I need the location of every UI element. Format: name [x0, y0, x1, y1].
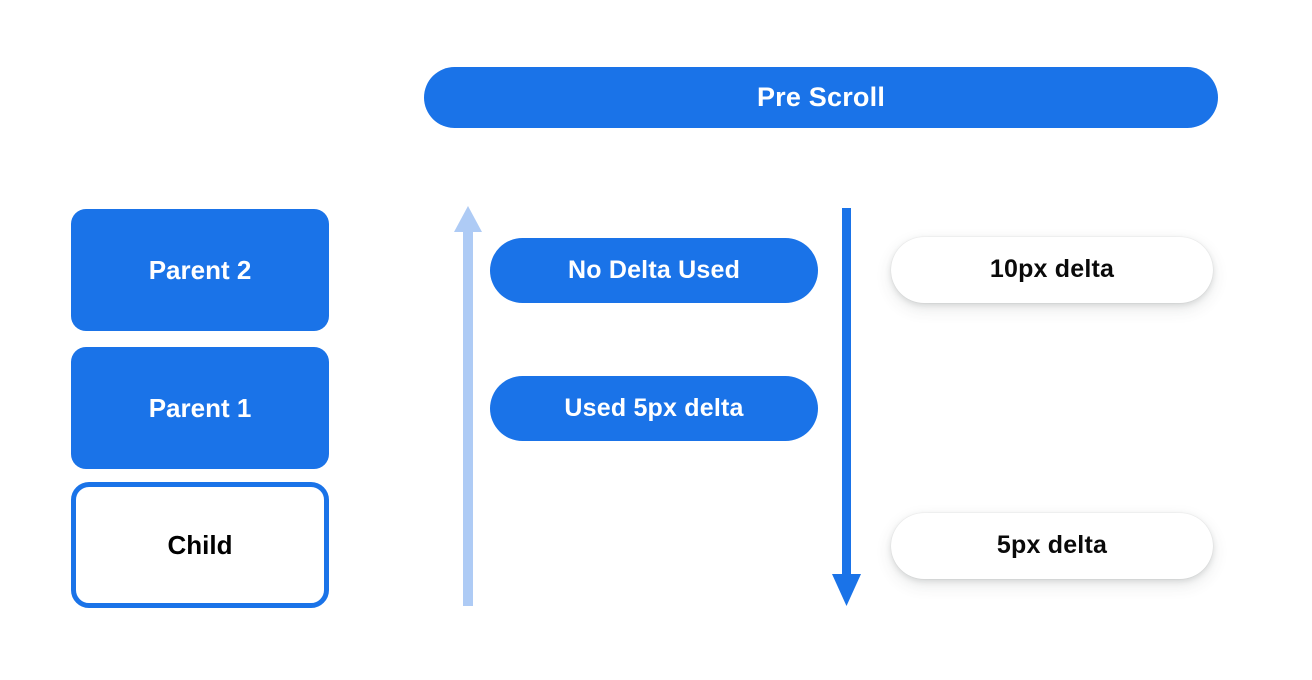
pill-5px-delta-label: 5px delta	[997, 532, 1107, 560]
downward-dark-arrow-icon	[830, 208, 864, 608]
pre-scroll-header-bar: Pre Scroll	[424, 67, 1218, 128]
pill-no-delta-used: No Delta Used	[490, 238, 818, 303]
pill-used-5px-delta-label: Used 5px delta	[564, 395, 743, 423]
pre-scroll-header-label: Pre Scroll	[757, 83, 885, 113]
stack-box-parent-2: Parent 2	[71, 209, 329, 331]
pill-no-delta-used-label: No Delta Used	[568, 257, 740, 285]
stack-box-child-label: Child	[168, 531, 233, 560]
pill-10px-delta: 10px delta	[891, 237, 1213, 303]
stack-box-parent-2-label: Parent 2	[149, 256, 252, 285]
stack-box-parent-1: Parent 1	[71, 347, 329, 469]
pill-5px-delta: 5px delta	[891, 513, 1213, 579]
pill-used-5px-delta: Used 5px delta	[490, 376, 818, 441]
pill-10px-delta-label: 10px delta	[990, 256, 1114, 284]
diagram-canvas: Pre Scroll Parent 2 Parent 1 Child No De…	[0, 0, 1312, 680]
stack-box-parent-1-label: Parent 1	[149, 394, 252, 423]
upward-light-arrow-icon	[452, 206, 484, 606]
stack-box-child: Child	[71, 482, 329, 608]
